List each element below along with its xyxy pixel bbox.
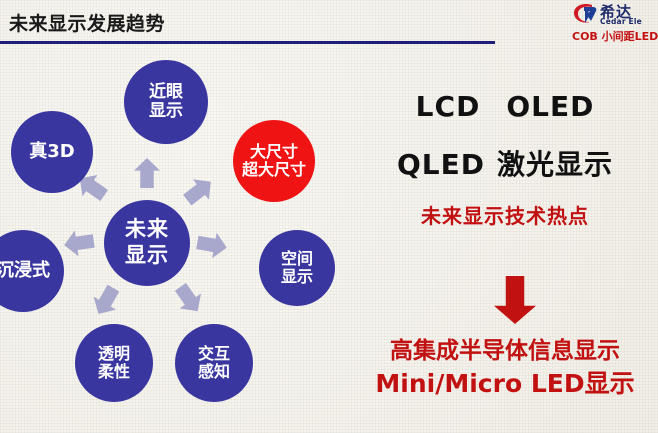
radiating-arrow-up-right	[179, 172, 219, 211]
header-divider	[0, 41, 495, 44]
tech-label-oled: OLED	[506, 90, 594, 123]
conclusion-line-2: Mini/Micro LED显示	[352, 364, 658, 400]
node-label-line: 空间	[281, 250, 313, 268]
logo-tagline: COB 小间距LED	[572, 28, 658, 44]
node-label-line: 柔性	[98, 363, 130, 381]
node-label-line: 未来	[125, 218, 169, 242]
conclusion-line-1: 高集成半导体信息显示	[352, 331, 658, 365]
node-interactive-sensing[interactable]: 交互 感知	[175, 324, 253, 402]
page-title: 未来显示发展趋势	[9, 9, 165, 36]
node-label-line: 交互	[198, 345, 230, 363]
logo-name-en: Cedar Ele	[600, 17, 642, 26]
node-label-line: 透明	[98, 345, 130, 363]
tech-label-lcd: LCD	[416, 90, 481, 123]
node-label-line: 真3D	[29, 142, 74, 162]
cedar-electronics-logo-icon	[572, 3, 598, 25]
radiating-arrow-up	[134, 158, 160, 188]
node-center-future-display[interactable]: 未来 显示	[104, 200, 190, 286]
node-label-line: 显示	[149, 102, 183, 121]
node-label-line: 显示	[281, 268, 313, 286]
node-spatial-display[interactable]: 空间 显示	[259, 230, 335, 306]
technology-summary-panel: LCDOLED QLED激光显示 未来显示技术热点 高集成半导体信息显示 Min…	[352, 48, 658, 433]
slide-canvas: 未来显示发展趋势 希达 Cedar Ele COB 小间距LED 近眼 显示	[0, 0, 658, 433]
radiating-arrow-left	[62, 228, 95, 258]
node-large-size[interactable]: 大尺寸 超大尺寸	[233, 120, 315, 202]
hotspot-caption: 未来显示技术热点	[352, 200, 658, 229]
node-label-line: 近眼	[149, 83, 183, 102]
tech-label-laser-display: 激光显示	[497, 148, 613, 181]
tech-row-qled-laser: QLED激光显示	[352, 143, 658, 183]
radiating-arrow-right	[195, 230, 229, 261]
tech-row-lcd-oled: LCDOLED	[352, 90, 658, 123]
node-transparent-flexible[interactable]: 透明 柔性	[75, 324, 153, 402]
down-arrow-icon	[494, 276, 536, 324]
radiating-arrow-down-left	[87, 282, 125, 321]
node-label-line: 大尺寸	[250, 143, 298, 161]
node-label-line: 感知	[198, 363, 230, 381]
node-immersive[interactable]: 沉浸式	[0, 230, 64, 312]
brand-logo: 希达 Cedar Ele COB 小间距LED	[572, 1, 658, 47]
node-near-eye-display[interactable]: 近眼 显示	[124, 60, 208, 144]
radiating-arrow-down-right	[170, 279, 209, 318]
node-true-3d[interactable]: 真3D	[11, 111, 93, 193]
tech-label-qled: QLED	[397, 148, 485, 181]
future-display-diagram: 近眼 显示 大尺寸 超大尺寸 真3D 沉浸式 空间 显示 透明 柔性 交互 感知…	[0, 48, 352, 433]
node-label-line: 超大尺寸	[242, 161, 306, 179]
node-label-line: 显示	[125, 244, 169, 268]
node-label-line: 沉浸式	[0, 261, 50, 281]
